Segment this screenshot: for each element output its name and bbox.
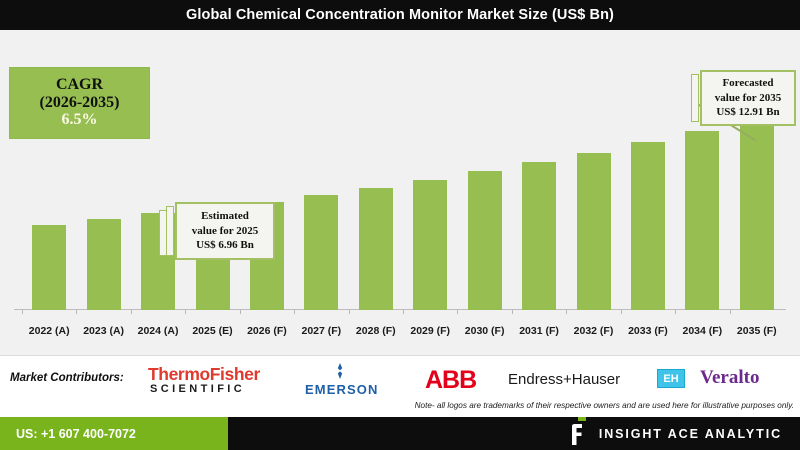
cagr-period: (2026-2035) [40,94,120,112]
thermo-fisher-logo-wordmark: ThermoFisher [148,364,260,385]
bar-2033-f-[interactable] [631,142,665,310]
x-axis-label-2035-f-: 2035 (F) [730,325,784,337]
market-contributors-strip: Market Contributors: ThermoFisher SCIENT… [0,355,800,417]
title-bar: Global Chemical Concentration Monitor Ma… [0,0,800,30]
x-axis-tick [76,309,77,314]
x-axis-tick [22,309,23,314]
brand-name: INSIGHT ACE ANALYTIC [599,427,782,441]
contributors-label: Market Contributors: [10,372,124,384]
bar-2028-f-[interactable] [359,188,393,310]
callout-2025-line3: US$ 6.96 Bn [196,238,254,253]
callout-2035-line3: US$ 12.91 Bn [716,105,779,120]
x-axis-tick [621,309,622,314]
x-axis-tick [512,309,513,314]
chart-panel: 2022 (A)2023 (A)2024 (A)2025 (E)2026 (F)… [0,30,800,355]
infographic-page: Global Chemical Concentration Monitor Ma… [0,0,800,450]
bar-2031-f-[interactable] [522,162,556,310]
x-axis-label-2027-f-: 2027 (F) [294,325,348,337]
x-axis-tick [675,309,676,314]
endress-hauser-logo-text: Endress+Hauser [508,371,620,388]
callout-2035-tab [691,74,699,122]
x-axis-label-2025-e-: 2025 (E) [185,325,239,337]
bar-2030-f-[interactable] [468,171,502,310]
footer-contact: US: +1 607 400-7072 [0,417,228,450]
x-axis-tick [294,309,295,314]
cagr-value: 6.5% [62,111,98,130]
x-axis-label-2032-f-: 2032 (F) [566,325,620,337]
x-axis-tick [185,309,186,314]
x-axis-tick [349,309,350,314]
x-axis-label-2028-f-: 2028 (F) [349,325,403,337]
emerson-logo-text: EMERSON [305,382,378,397]
cagr-label: CAGR [56,76,103,94]
x-axis-label-2034-f-: 2034 (F) [675,325,729,337]
x-axis-tick [403,309,404,314]
x-axis-label-2023-a-: 2023 (A) [76,325,130,337]
thermo-fisher-logo-subtext: SCIENTIFIC [150,383,245,395]
x-axis-tick [240,309,241,314]
callout-2025-tab-inner [166,206,174,256]
bar-2023-a-[interactable] [87,219,121,310]
page-title: Global Chemical Concentration Monitor Ma… [186,7,614,23]
x-axis-label-2022-a-: 2022 (A) [22,325,76,337]
footer-brand: INSIGHT ACE ANALYTIC [569,417,782,450]
callout-2035-line2: value for 2035 [715,91,781,106]
x-axis-tick [131,309,132,314]
bar-2029-f-[interactable] [413,180,447,310]
endress-hauser-badge-icon: EH [657,369,685,388]
x-axis-label-2030-f-: 2030 (F) [457,325,511,337]
emerson-mark-icon [332,363,348,379]
x-axis-label-2026-f-: 2026 (F) [240,325,294,337]
veralto-logo-text: Veralto [700,367,759,389]
footer-bar: US: +1 607 400-7072 INSIGHT ACE ANALYTIC [0,417,800,450]
insight-ace-logo-icon [569,423,587,445]
x-axis-line [14,309,786,310]
bar-2027-f-[interactable] [304,195,338,310]
callout-2025-line1: Estimated [201,209,249,224]
bar-2035-f-[interactable] [740,118,774,310]
x-axis-label-2031-f-: 2031 (F) [512,325,566,337]
bar-2034-f-[interactable] [685,131,719,310]
x-axis-tick [730,309,731,314]
abb-logo-text: ABB [425,366,476,395]
callout-estimated-2025: Estimated value for 2025 US$ 6.96 Bn [175,202,275,260]
bar-2022-a-[interactable] [32,225,66,310]
callout-2025-line2: value for 2025 [192,224,258,239]
x-axis-tick [566,309,567,314]
x-axis-label-2029-f-: 2029 (F) [403,325,457,337]
callout-2035-line1: Forecasted [722,76,773,91]
bar-2032-f-[interactable] [577,153,611,310]
x-axis-label-2033-f-: 2033 (F) [621,325,675,337]
x-axis-label-2024-a-: 2024 (A) [131,325,185,337]
callout-forecast-2035: Forecasted value for 2035 US$ 12.91 Bn [700,70,796,126]
x-axis-tick [457,309,458,314]
trademark-note: Note- all logos are trademarks of their … [415,401,794,410]
footer-phone[interactable]: US: +1 607 400-7072 [16,427,136,441]
cagr-badge: CAGR (2026-2035) 6.5% [9,67,150,139]
